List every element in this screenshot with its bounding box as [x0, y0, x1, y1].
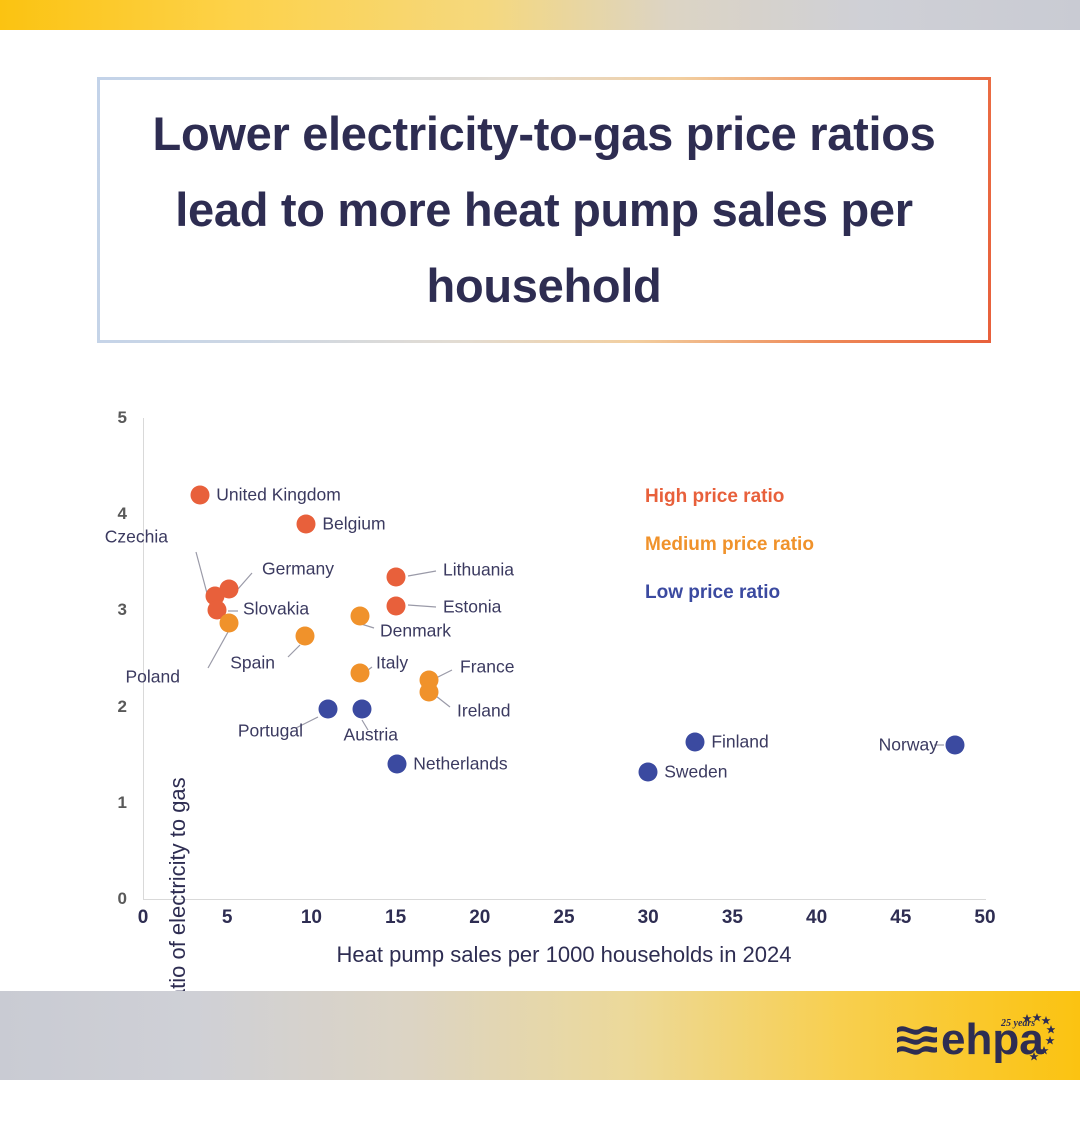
title-card: Lower electricity-to-gas price ratios le… — [97, 77, 991, 343]
data-point[interactable] — [352, 700, 371, 719]
y-axis-tick: 3 — [87, 600, 127, 620]
point-label: Poland — [126, 667, 181, 688]
x-axis-tick: 0 — [138, 907, 149, 929]
point-label: Netherlands — [413, 754, 507, 775]
point-label: United Kingdom — [216, 484, 341, 505]
point-label: Norway — [879, 735, 938, 756]
data-point[interactable] — [351, 607, 370, 626]
point-label: France — [460, 657, 514, 678]
y-axis-tick: 4 — [87, 504, 127, 524]
point-label: Austria — [344, 725, 398, 746]
y-axis-tick: 5 — [87, 408, 127, 428]
x-axis-label: Heat pump sales per 1000 households in 2… — [143, 942, 985, 968]
x-axis-tick: 30 — [638, 907, 659, 929]
x-axis-tick: 15 — [385, 907, 406, 929]
y-axis-tick: 1 — [87, 793, 127, 813]
x-axis-ticks: 05101520253035404550 — [143, 907, 985, 935]
point-label: Portugal — [238, 721, 303, 742]
point-label: Finland — [711, 732, 768, 753]
x-axis-tick: 40 — [806, 907, 827, 929]
x-axis-tick: 20 — [469, 907, 490, 929]
point-label: Lithuania — [443, 560, 514, 581]
scatter-chart: 012345 05101520253035404550 Heat pump sa… — [0, 370, 1080, 990]
legend-item-high[interactable]: High price ratio — [645, 486, 784, 508]
data-point[interactable] — [297, 514, 316, 533]
ehpa-logo-mark: ehpa 25 years — [895, 1008, 1055, 1068]
logo-anniversary-badge: 25 years — [1000, 1018, 1035, 1029]
x-axis-tick: 45 — [890, 907, 911, 929]
data-point[interactable] — [386, 567, 405, 586]
x-axis-tick: 25 — [553, 907, 574, 929]
point-label: Sweden — [664, 762, 727, 783]
y-axis-tick: 2 — [87, 697, 127, 717]
y-axis-ticks: 012345 — [95, 418, 135, 899]
point-label: Slovakia — [243, 599, 309, 620]
y-axis-label-holder: Price ratio of electricity to gas — [143, 658, 144, 659]
data-point[interactable] — [420, 683, 439, 702]
ehpa-logo[interactable]: ehpa 25 years — [895, 1008, 1055, 1068]
data-point[interactable] — [686, 733, 705, 752]
point-label: Denmark — [380, 621, 451, 642]
data-point[interactable] — [945, 736, 964, 755]
page-title: Lower electricity-to-gas price ratios le… — [100, 80, 988, 340]
x-axis-tick: 5 — [222, 907, 233, 929]
data-point[interactable] — [386, 596, 405, 615]
x-axis-tick: 35 — [722, 907, 743, 929]
data-point[interactable] — [639, 763, 658, 782]
point-label: Spain — [230, 653, 275, 674]
point-label: Czechia — [105, 527, 168, 548]
point-label: Estonia — [443, 597, 501, 618]
data-point[interactable] — [219, 613, 238, 632]
data-point[interactable] — [295, 627, 314, 646]
x-axis-tick: 50 — [974, 907, 995, 929]
legend-item-medium[interactable]: Medium price ratio — [645, 534, 814, 556]
data-point[interactable] — [319, 699, 338, 718]
point-label: Belgium — [322, 513, 385, 534]
point-label: Ireland — [457, 701, 511, 722]
legend-item-low[interactable]: Low price ratio — [645, 582, 780, 604]
x-axis-tick: 10 — [301, 907, 322, 929]
data-point[interactable] — [351, 663, 370, 682]
point-label: Germany — [262, 559, 334, 580]
y-axis-tick: 0 — [87, 889, 127, 909]
top-gradient-bar — [0, 0, 1080, 30]
data-point[interactable] — [388, 755, 407, 774]
point-label: Italy — [376, 653, 408, 674]
slide-root: Lower electricity-to-gas price ratios le… — [0, 0, 1080, 1080]
data-point[interactable] — [191, 485, 210, 504]
